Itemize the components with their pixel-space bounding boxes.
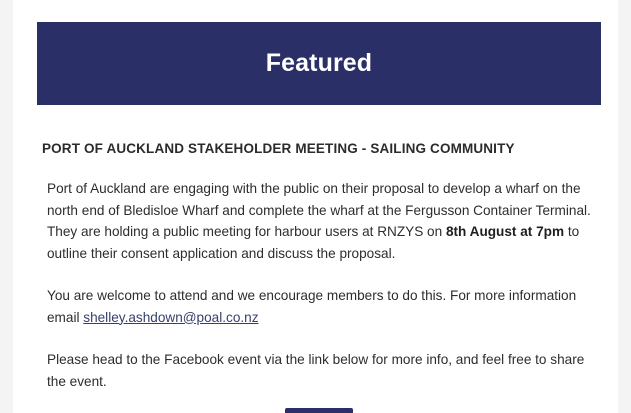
meeting-date-time: 8th August at 7pm (446, 224, 564, 239)
article-paragraph-2: You are welcome to attend and we encoura… (47, 285, 602, 328)
featured-banner-title: Featured (266, 51, 372, 76)
article-body: Port of Auckland are engaging with the p… (34, 178, 602, 392)
contact-email-link[interactable]: shelley.ashdown@poal.co.nz (83, 310, 258, 325)
article-heading: PORT OF AUCKLAND STAKEHOLDER MEETING - S… (34, 140, 602, 158)
newsletter-content-card: Featured PORT OF AUCKLAND STAKEHOLDER ME… (13, 0, 618, 413)
article-paragraph-1: Port of Auckland are engaging with the p… (47, 178, 602, 264)
featured-banner: Featured (37, 22, 601, 105)
newsletter-page: Featured PORT OF AUCKLAND STAKEHOLDER ME… (0, 0, 631, 413)
facebook-event-button[interactable]: Facebook (285, 408, 353, 413)
article-section: PORT OF AUCKLAND STAKEHOLDER MEETING - S… (34, 140, 602, 392)
article-paragraph-3: Please head to the Facebook event via th… (47, 349, 602, 392)
